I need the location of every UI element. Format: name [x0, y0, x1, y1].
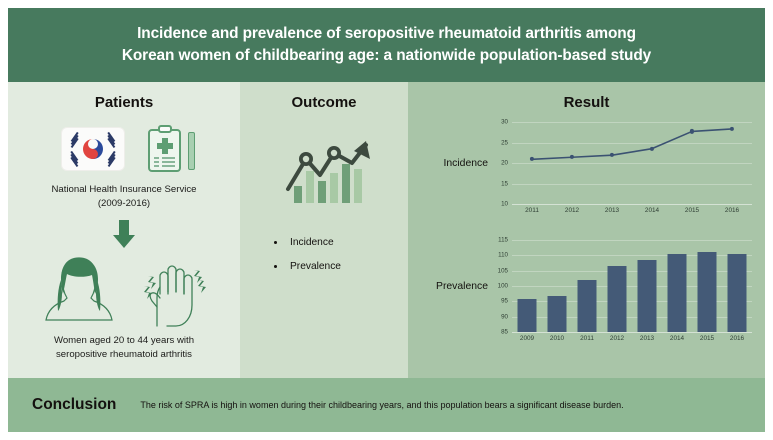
x-axis-tick: 2011: [525, 207, 539, 214]
title-line-2: Korean women of childbearing age: a nati…: [122, 45, 651, 67]
outcome-title: Outcome: [240, 94, 408, 111]
medical-clipboard-icon: [146, 125, 186, 173]
x-axis-tick: 2015: [685, 207, 699, 214]
incidence-chart-plot: 1015202530201120122013201420152016: [512, 122, 752, 204]
y-axis-tick: 20: [501, 160, 508, 167]
conclusion-text: The risk of SPRA is high in women during…: [140, 400, 623, 410]
y-axis-tick: 10: [501, 201, 508, 208]
patients-figure-row: [8, 250, 240, 328]
growth-chart-icon: [276, 133, 372, 207]
x-axis-tick: 2010: [550, 335, 564, 342]
incidence-line-series: [512, 122, 752, 204]
gridline: [512, 204, 752, 205]
painful-hand-icon: [134, 250, 208, 328]
title-line-1: Incidence and prevalence of seropositive…: [122, 23, 651, 45]
x-axis-tick: 2012: [610, 335, 624, 342]
result-title: Result: [408, 94, 765, 111]
taeguk-symbol: [83, 139, 103, 159]
pencil-icon: [188, 132, 195, 170]
bar: [728, 254, 747, 332]
bar: [608, 266, 627, 332]
y-axis-tick: 115: [498, 237, 508, 244]
x-axis-tick: 2016: [730, 335, 744, 342]
incidence-chart-block: Incidence 101520253020112012201320142015…: [414, 122, 752, 204]
conclusion-bar: Conclusion The risk of SPRA is high in w…: [8, 378, 765, 432]
x-axis-tick: 2012: [565, 207, 579, 214]
y-axis-tick: 110: [498, 252, 508, 259]
x-axis-tick: 2009: [520, 335, 534, 342]
korean-flag-icon: [62, 128, 124, 170]
outcome-bullet-prevalence: Prevalence: [274, 261, 408, 272]
y-axis-tick: 85: [501, 329, 508, 336]
woman-icon: [40, 250, 118, 328]
patients-source-caption: National Health Insurance Service (2009-…: [8, 183, 240, 211]
gridline: [512, 332, 752, 333]
panel-outcome: Outcome Incidence: [240, 82, 408, 378]
bullet-dot-icon: [274, 265, 277, 268]
down-arrow-icon: [113, 220, 135, 248]
x-axis-tick: 2011: [580, 335, 594, 342]
x-axis-tick: 2015: [700, 335, 714, 342]
panels-row: Patients: [8, 82, 765, 378]
graphical-abstract: Incidence and prevalence of seropositive…: [8, 8, 765, 432]
y-axis-tick: 30: [501, 119, 508, 126]
bar: [698, 252, 717, 332]
incidence-chart-label: Incidence: [414, 158, 488, 169]
gridline: [512, 240, 752, 241]
bar: [518, 299, 537, 332]
prevalence-chart-block: Prevalence 85909510010511011520092010201…: [414, 240, 752, 332]
outcome-bullet-list: Incidence Prevalence: [274, 237, 408, 272]
x-axis-tick: 2014: [645, 207, 659, 214]
bar: [578, 280, 597, 332]
x-axis-tick: 2016: [725, 207, 739, 214]
panel-result: Result Incidence 10152025302011201220132…: [408, 82, 765, 378]
outcome-bullet-incidence: Incidence: [274, 237, 408, 248]
panel-patients: Patients: [8, 82, 240, 378]
conclusion-title: Conclusion: [32, 396, 116, 414]
bar: [638, 260, 657, 332]
bar: [668, 254, 687, 332]
x-axis-tick: 2013: [640, 335, 654, 342]
y-axis-tick: 100: [498, 283, 508, 290]
y-axis-tick: 15: [501, 180, 508, 187]
page-title: Incidence and prevalence of seropositive…: [122, 23, 651, 68]
prevalence-chart-plot: 8590951001051101152009201020112012201320…: [512, 240, 752, 332]
y-axis-tick: 95: [501, 298, 508, 305]
y-axis-tick: 25: [501, 139, 508, 146]
x-axis-tick: 2014: [670, 335, 684, 342]
bar: [548, 296, 567, 332]
header-banner: Incidence and prevalence of seropositive…: [8, 8, 765, 82]
bullet-dot-icon: [274, 241, 277, 244]
patients-icon-row: [8, 125, 240, 173]
patients-title: Patients: [8, 94, 240, 111]
patients-population-caption: Women aged 20 to 44 years with seroposit…: [8, 334, 240, 362]
prevalence-chart-label: Prevalence: [414, 281, 488, 292]
x-axis-tick: 2013: [605, 207, 619, 214]
y-axis-tick: 105: [498, 267, 508, 274]
y-axis-tick: 90: [501, 313, 508, 320]
